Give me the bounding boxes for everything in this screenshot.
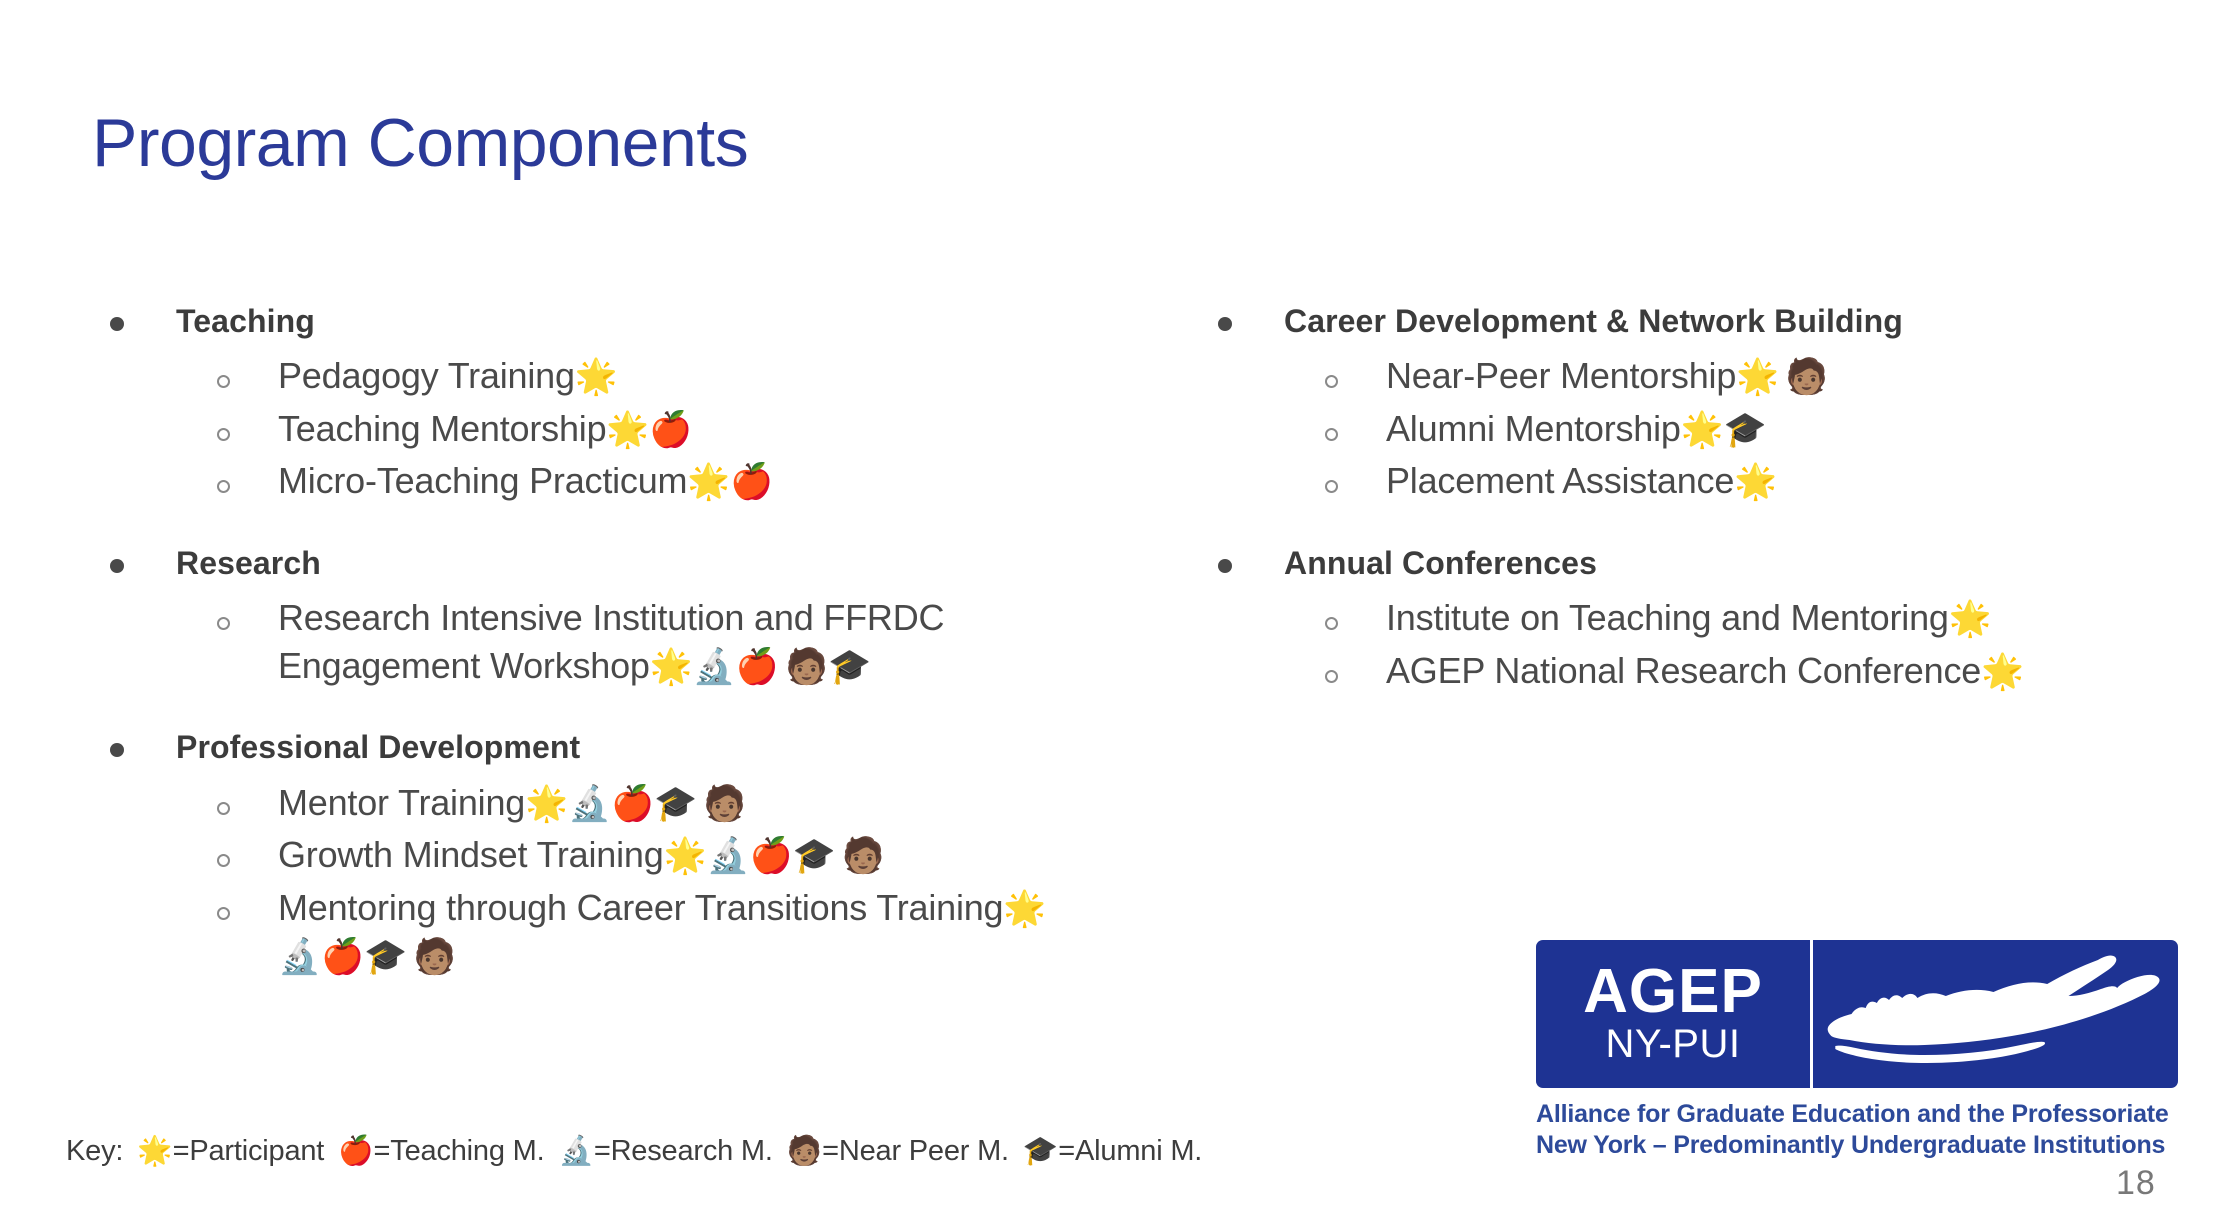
teaching-mentor-icon: 🍎 xyxy=(730,462,773,502)
research-mentor-icon: 🔬 xyxy=(693,647,736,687)
logo-wordmark: AGEP NY-PUI xyxy=(1536,940,1813,1088)
research-mentor-icon: 🔬 xyxy=(707,836,750,876)
bullet-dot-icon xyxy=(110,743,124,757)
bullet-item-label: Growth Mindset Training🌟🔬🍎🎓🧑🏽 xyxy=(278,831,885,880)
bullet-item-label: Mentor Training🌟🔬🍎🎓🧑🏽 xyxy=(278,779,746,828)
bullet-ring-icon xyxy=(1325,670,1338,683)
bullet-l1-annual-conferences: Annual Conferences xyxy=(1218,542,2178,584)
bullet-l2-teaching-mentorship: Teaching Mentorship🌟🍎 xyxy=(217,405,1120,454)
near-peer-mentor-icon: 🧑🏽 xyxy=(1785,357,1828,397)
bullet-ring-icon xyxy=(1325,375,1338,388)
bullet-column-left: TeachingPedagogy Training🌟Teaching Mento… xyxy=(110,300,1120,985)
alumni-mentor-icon: 🎓 xyxy=(654,784,697,824)
bullet-item-text: Teaching Mentorship xyxy=(278,408,606,449)
bullet-ring-icon xyxy=(217,375,230,388)
legend-key: Key:🌟=Participant🍎=Teaching M.🔬=Research… xyxy=(66,1134,1216,1169)
logo-bar: AGEP NY-PUI xyxy=(1536,940,2178,1088)
bullet-item-text: AGEP National Research Conference xyxy=(1386,650,1981,691)
bullet-ring-icon xyxy=(217,907,230,920)
bullet-dot-icon xyxy=(1218,317,1232,331)
research-mentor-icon: 🔬 xyxy=(568,784,611,824)
bullet-dot-icon xyxy=(1218,559,1232,573)
bullet-item-text: Mentor Training xyxy=(278,782,525,823)
participant-icon: 🌟 xyxy=(137,1134,172,1167)
legend-entry-label: =Alumni M. xyxy=(1058,1135,1202,1167)
page-title: Program Components xyxy=(92,108,748,179)
bullet-group-teaching: TeachingPedagogy Training🌟Teaching Mento… xyxy=(110,300,1120,506)
bullet-item-label: Micro-Teaching Practicum🌟🍎 xyxy=(278,457,773,506)
bullet-item-label: Near-Peer Mentorship🌟🧑🏽 xyxy=(1386,352,1828,401)
bullet-item-text: Alumni Mentorship xyxy=(1386,408,1681,449)
legend-label: Key: xyxy=(66,1135,123,1167)
group-heading: Research xyxy=(176,542,321,584)
bullet-l2-pedagogy-training: Pedagogy Training🌟 xyxy=(217,352,1120,401)
bullet-group-research: ResearchResearch Intensive Institution a… xyxy=(110,542,1120,690)
participant-icon: 🌟 xyxy=(664,836,707,876)
participant-icon: 🌟 xyxy=(687,462,730,502)
teaching-mentor-icon: 🍎 xyxy=(736,647,779,687)
bullet-item-text: Growth Mindset Training xyxy=(278,834,664,875)
bullet-item-label: Placement Assistance🌟 xyxy=(1386,457,1777,506)
alumni-mentor-icon: 🎓 xyxy=(1724,410,1767,450)
bullet-ring-icon xyxy=(1325,480,1338,493)
bullet-group-career-development-and-network-building: Career Development & Network BuildingNea… xyxy=(1218,300,2178,506)
bullet-group-professional-development: Professional DevelopmentMentor Training🌟… xyxy=(110,726,1120,981)
bullet-l2-placement-assistance: Placement Assistance🌟 xyxy=(1325,457,2178,506)
legend-entry-label: =Teaching M. xyxy=(374,1135,545,1167)
bullet-item-label: Teaching Mentorship🌟🍎 xyxy=(278,405,692,454)
participant-icon: 🌟 xyxy=(1734,462,1777,502)
bullet-l2-alumni-mentorship: Alumni Mentorship🌟🎓 xyxy=(1325,405,2178,454)
alumni-mentor-icon: 🎓 xyxy=(828,647,871,687)
legend-entry-alumni-mentor: 🎓=Alumni M. xyxy=(1023,1135,1202,1167)
bullet-item-text: Near-Peer Mentorship xyxy=(1386,355,1736,396)
legend-entry-label: =Research M. xyxy=(594,1135,773,1167)
bullet-item-label: Mentoring through Career Transitions Tra… xyxy=(278,884,1068,981)
group-heading: Teaching xyxy=(176,300,315,342)
legend-entry-near-peer-mentor: 🧑🏽=Near Peer M. xyxy=(787,1135,1009,1167)
bullet-l1-teaching: Teaching xyxy=(110,300,1120,342)
near-peer-mentor-icon: 🧑🏽 xyxy=(787,1134,822,1167)
bullet-l2-mentor-training: Mentor Training🌟🔬🍎🎓🧑🏽 xyxy=(217,779,1120,828)
participant-icon: 🌟 xyxy=(606,410,649,450)
bullet-item-label: Pedagogy Training🌟 xyxy=(278,352,618,401)
logo-region: NY-PUI xyxy=(1606,1023,1741,1065)
logo-tagline-line2: New York – Predominantly Undergraduate I… xyxy=(1536,1130,2178,1161)
legend-entry-label: =Near Peer M. xyxy=(822,1135,1009,1167)
bullet-item-text: Mentoring through Career Transitions Tra… xyxy=(278,887,1003,928)
participant-icon: 🌟 xyxy=(1981,652,2024,692)
teaching-mentor-icon: 🍎 xyxy=(338,1134,373,1167)
logo-acronym: AGEP xyxy=(1583,963,1763,1021)
bullet-l2-mentoring-through-career-transitions-training: Mentoring through Career Transitions Tra… xyxy=(217,884,1120,981)
participant-icon: 🌟 xyxy=(650,647,693,687)
bullet-ring-icon xyxy=(217,428,230,441)
alumni-mentor-icon: 🎓 xyxy=(793,836,836,876)
bullet-group-annual-conferences: Annual ConferencesInstitute on Teaching … xyxy=(1218,542,2178,695)
bullet-item-text: Micro-Teaching Practicum xyxy=(278,460,687,501)
bullet-l2-institute-on-teaching-and-mentoring: Institute on Teaching and Mentoring🌟 xyxy=(1325,594,2178,643)
bullet-l2-growth-mindset-training: Growth Mindset Training🌟🔬🍎🎓🧑🏽 xyxy=(217,831,1120,880)
participant-icon: 🌟 xyxy=(1736,357,1779,397)
legend-entry-participant: 🌟=Participant xyxy=(137,1135,324,1167)
bullet-l2-micro-teaching-practicum: Micro-Teaching Practicum🌟🍎 xyxy=(217,457,1120,506)
bullet-ring-icon xyxy=(217,480,230,493)
bullet-ring-icon xyxy=(217,617,230,630)
bullet-item-text: Pedagogy Training xyxy=(278,355,575,396)
participant-icon: 🌟 xyxy=(575,357,618,397)
logo-tagline-line1: Alliance for Graduate Education and the … xyxy=(1536,1099,2178,1130)
teaching-mentor-icon: 🍎 xyxy=(750,836,793,876)
alumni-mentor-icon: 🎓 xyxy=(1023,1134,1058,1167)
page-number: 18 xyxy=(2116,1164,2156,1203)
bullet-ring-icon xyxy=(217,854,230,867)
group-heading: Career Development & Network Building xyxy=(1284,300,1903,342)
bullet-l2-near-peer-mentorship: Near-Peer Mentorship🌟🧑🏽 xyxy=(1325,352,2178,401)
teaching-mentor-icon: 🍎 xyxy=(321,937,364,977)
legend-entry-label: =Participant xyxy=(173,1135,325,1167)
slide-canvas: Program Components TeachingPedagogy Trai… xyxy=(0,0,2226,1226)
bullet-dot-icon xyxy=(110,317,124,331)
bullet-item-label: Research Intensive Institution and FFRDC… xyxy=(278,594,1068,690)
bullet-item-text: Institute on Teaching and Mentoring xyxy=(1386,597,1949,638)
near-peer-mentor-icon: 🧑🏽 xyxy=(413,937,456,977)
near-peer-mentor-icon: 🧑🏽 xyxy=(785,647,828,687)
research-mentor-icon: 🔬 xyxy=(278,937,321,977)
long-island-map-icon xyxy=(1813,940,2178,1088)
participant-icon: 🌟 xyxy=(1681,410,1724,450)
bullet-item-label: AGEP National Research Conference🌟 xyxy=(1386,647,2024,696)
alumni-mentor-icon: 🎓 xyxy=(364,937,407,977)
participant-icon: 🌟 xyxy=(1949,599,1992,639)
bullet-item-label: Institute on Teaching and Mentoring🌟 xyxy=(1386,594,1992,643)
near-peer-mentor-icon: 🧑🏽 xyxy=(703,784,746,824)
agep-logo: AGEP NY-PUI Alliance for Graduate Educat… xyxy=(1536,940,2178,1161)
legend-entry-teaching-mentor: 🍎=Teaching M. xyxy=(338,1135,544,1167)
group-heading: Professional Development xyxy=(176,726,580,768)
research-mentor-icon: 🔬 xyxy=(558,1134,593,1167)
bullet-ring-icon xyxy=(1325,617,1338,630)
bullet-l1-professional-development: Professional Development xyxy=(110,726,1120,768)
teaching-mentor-icon: 🍎 xyxy=(611,784,654,824)
bullet-column-right: Career Development & Network BuildingNea… xyxy=(1218,300,2178,700)
bullet-l1-career-development-and-network-building: Career Development & Network Building xyxy=(1218,300,2178,342)
bullet-l1-research: Research xyxy=(110,542,1120,584)
bullet-l2-agep-national-research-conference: AGEP National Research Conference🌟 xyxy=(1325,647,2178,696)
near-peer-mentor-icon: 🧑🏽 xyxy=(842,836,885,876)
logo-tagline: Alliance for Graduate Education and the … xyxy=(1536,1099,2178,1161)
participant-icon: 🌟 xyxy=(525,784,568,824)
bullet-item-label: Alumni Mentorship🌟🎓 xyxy=(1386,405,1767,454)
bullet-l2-research-intensive-institution-and-ffrdc-engag: Research Intensive Institution and FFRDC… xyxy=(217,594,1120,690)
bullet-item-text: Placement Assistance xyxy=(1386,460,1734,501)
participant-icon: 🌟 xyxy=(1003,889,1046,929)
group-heading: Annual Conferences xyxy=(1284,542,1597,584)
bullet-ring-icon xyxy=(217,802,230,815)
teaching-mentor-icon: 🍎 xyxy=(649,410,692,450)
legend-entry-research-mentor: 🔬=Research M. xyxy=(558,1135,772,1167)
bullet-dot-icon xyxy=(110,559,124,573)
bullet-ring-icon xyxy=(1325,428,1338,441)
